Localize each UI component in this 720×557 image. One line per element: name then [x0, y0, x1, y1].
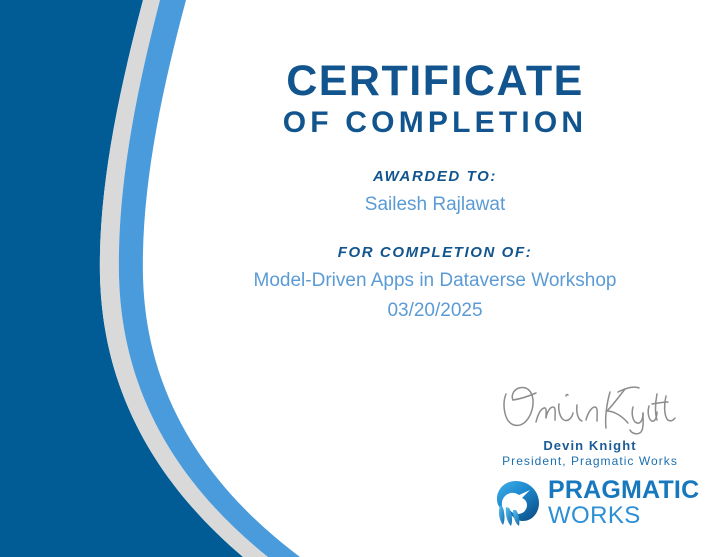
pragmatic-works-logo: PRAGMATIC WORKS	[492, 477, 707, 529]
for-completion-of-label: FOR COMPLETION OF:	[160, 244, 710, 261]
logo-word-works: WORKS	[548, 504, 699, 528]
field-spacer	[160, 216, 710, 244]
recipient-name: Sailesh Rajlawat	[160, 194, 710, 216]
certificate-body: AWARDED TO: Sailesh Rajlawat FOR COMPLET…	[160, 168, 710, 322]
course-name: Model-Driven Apps in Dataverse Workshop	[160, 270, 710, 292]
handwritten-signature-icon	[500, 382, 680, 436]
eagle-feather-2	[506, 507, 512, 526]
certificate-title: CERTIFICATE OF COMPLETION	[160, 60, 710, 141]
signature-block: Devin Knight President, Pragmatic Works	[470, 382, 710, 468]
title-line-of-completion: OF COMPLETION	[160, 106, 710, 141]
logo-word-pragmatic: PRAGMATIC	[548, 478, 699, 503]
eagle-head-icon	[492, 478, 542, 528]
completion-date: 03/20/2025	[160, 300, 710, 322]
certificate-canvas: CERTIFICATE OF COMPLETION AWARDED TO: Sa…	[0, 0, 720, 557]
eagle-feather-3	[513, 510, 519, 526]
signatory-role: President, Pragmatic Works	[470, 454, 710, 468]
awarded-to-label: AWARDED TO:	[160, 168, 710, 185]
eagle-feather-1	[499, 505, 505, 525]
logo-wordmark: PRAGMATIC WORKS	[548, 478, 699, 528]
signatory-name: Devin Knight	[470, 438, 710, 453]
signature-script	[470, 382, 710, 436]
title-line-certificate: CERTIFICATE	[160, 60, 710, 103]
